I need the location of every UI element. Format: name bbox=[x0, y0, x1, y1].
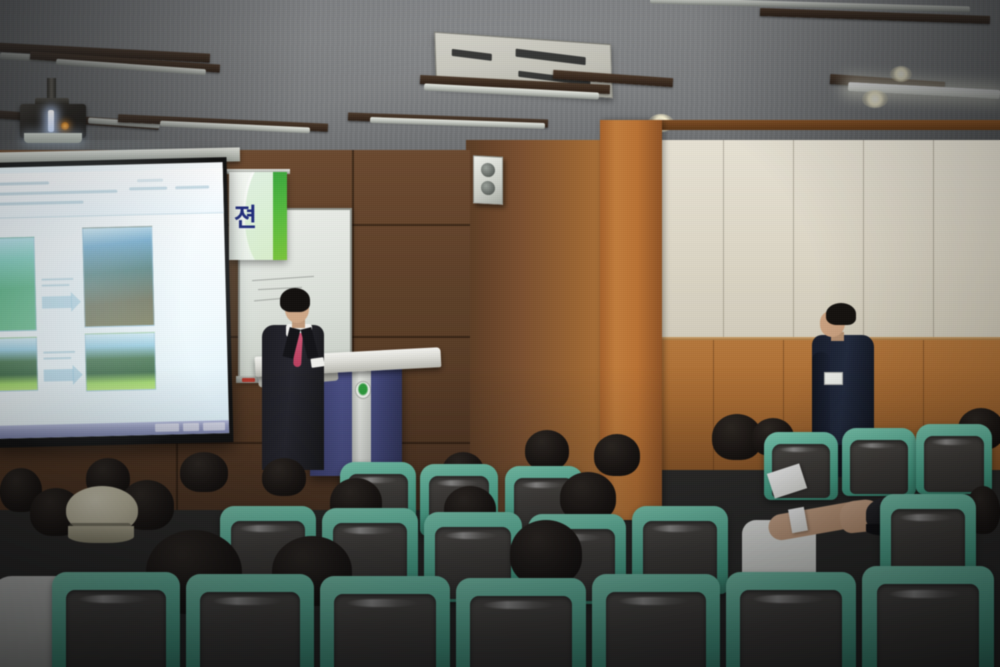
seat-highlight bbox=[899, 514, 953, 521]
audience-head bbox=[594, 434, 640, 476]
green-vertical-banner: 젼 bbox=[229, 172, 287, 260]
auditorium-seat bbox=[842, 428, 916, 496]
seat-highlight bbox=[444, 532, 499, 539]
auditorium-presentation-photo: 젼 bbox=[0, 0, 1000, 667]
wall-mounted-pa-speaker bbox=[473, 155, 503, 205]
speaker-cone-icon bbox=[481, 181, 495, 196]
slide-photo-aerial-green bbox=[0, 237, 37, 332]
auditorium-seat bbox=[52, 572, 180, 667]
projection-screen bbox=[0, 157, 233, 448]
auditorium-seat bbox=[456, 578, 586, 667]
audience-head bbox=[525, 430, 569, 470]
auditorium-seat bbox=[320, 576, 450, 667]
auditorium-seat bbox=[592, 574, 720, 667]
speaker-cone-icon bbox=[481, 163, 495, 178]
name-badge bbox=[824, 372, 843, 385]
auditorium-seat bbox=[862, 566, 994, 667]
auditorium-seat bbox=[726, 572, 856, 667]
khaki-cap-brim bbox=[68, 526, 134, 543]
seat-highlight bbox=[521, 482, 565, 488]
marker-red-icon bbox=[242, 378, 255, 382]
slide-arrow-icon bbox=[42, 296, 72, 309]
slide-photo-forest-before bbox=[0, 337, 38, 392]
slide-title-band bbox=[0, 168, 224, 219]
auditorium-seat bbox=[916, 424, 992, 494]
slide-arrow-icon bbox=[44, 369, 74, 382]
audience-head bbox=[180, 452, 228, 492]
slide-photo-aerial-dark bbox=[82, 226, 154, 328]
slide-photo-forest-after bbox=[85, 332, 156, 392]
audience-head bbox=[262, 458, 306, 496]
projector-base bbox=[24, 133, 82, 143]
presenter-hair bbox=[280, 288, 310, 312]
audience-head bbox=[510, 520, 582, 586]
presenter-pocket-square bbox=[310, 357, 324, 368]
green-leaf-emblem-icon bbox=[355, 381, 371, 399]
banner-text: 젼 bbox=[234, 198, 256, 234]
seat-highlight bbox=[436, 480, 480, 486]
auditorium-seat bbox=[186, 574, 314, 667]
standing-attendee-hair bbox=[826, 303, 856, 325]
projector-indicator-icon bbox=[61, 122, 69, 130]
projected-taskbar bbox=[0, 420, 229, 439]
seat-highlight bbox=[931, 439, 974, 445]
projection-screen-surface bbox=[0, 162, 229, 439]
projector-lens-icon bbox=[48, 110, 54, 132]
